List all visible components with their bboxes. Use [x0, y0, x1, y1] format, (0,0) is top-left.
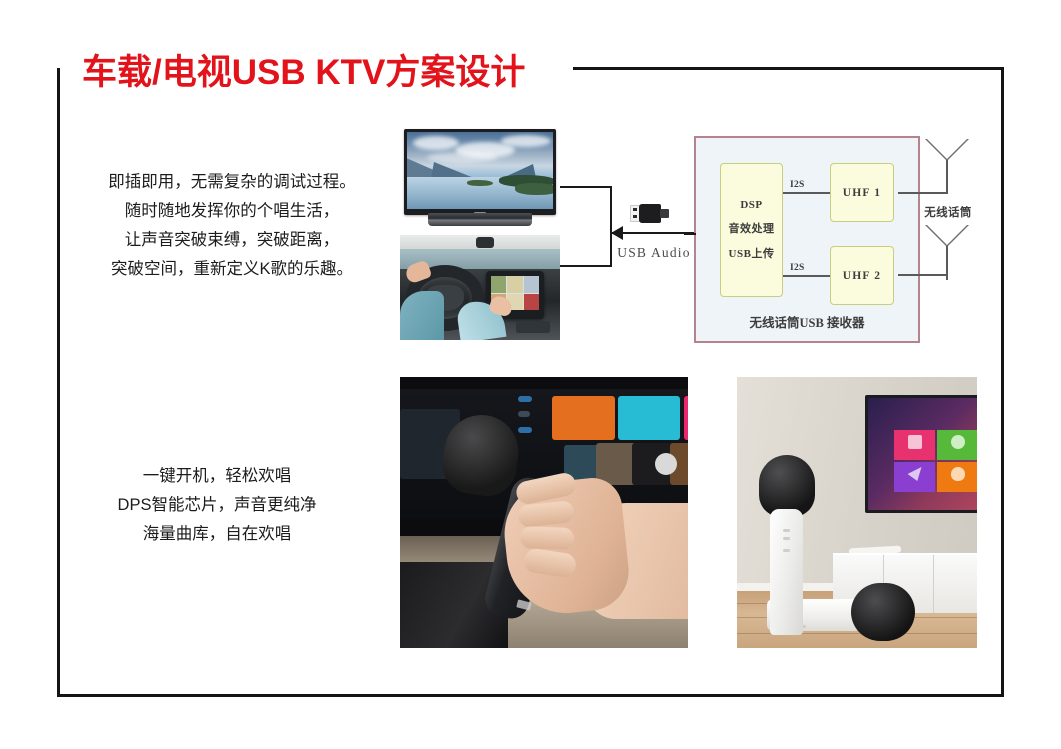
uhf2-block: UHF 2: [830, 246, 894, 305]
slide-canvas: 车载/电视USB KTV方案设计 即插即用，无需复杂的调试过程。 随时随地发挥你…: [0, 0, 1061, 749]
antenna-icon: [925, 139, 969, 195]
intro-line-1: 即插即用，无需复杂的调试过程。: [72, 168, 392, 197]
intro-line-3: 让声音突破束缚，突破距离，: [72, 226, 392, 255]
driver-left-arm: [400, 291, 444, 340]
tv-app-tile: [937, 462, 977, 492]
frame-border-left: [57, 68, 60, 697]
wireless-microphone-label: 无线话筒: [912, 204, 984, 220]
television-photo: [400, 127, 560, 231]
microphone-foam-windscreen: [759, 455, 815, 517]
receiver-caption: 无线话筒USB 接收器: [696, 312, 918, 331]
uhf2-label: UHF 2: [843, 270, 881, 282]
rear-view-mirror: [476, 237, 494, 248]
i2s-label-1: I2S: [790, 180, 805, 190]
usb-audio-label: USB Audio: [608, 245, 700, 261]
tv-home-screen: [868, 398, 977, 510]
car-connection-line: [560, 265, 612, 267]
i2s-line-2: [783, 275, 830, 277]
dsp-label-3: USB上传: [729, 245, 775, 261]
microphone-in-car-photo: [400, 377, 688, 648]
usb-audio-arrow-icon: [611, 226, 623, 240]
feature-line-2: DPS智能芯片，声音更纯净: [72, 491, 362, 520]
feature-line-3: 海量曲库，自在欢唱: [72, 520, 362, 549]
feature-line-1: 一键开机，轻松欢唱: [72, 462, 362, 491]
wall-mounted-tv: [865, 395, 977, 513]
microphone-foam-windscreen: [851, 583, 915, 641]
receiver-block-diagram: DSP 音效处理 USB上传 I2S I2S UHF 1 UHF 2 无线话筒U…: [694, 136, 920, 343]
tv-app-tiles: [894, 430, 977, 492]
diagram-input-stub: [684, 233, 696, 235]
tv-app-tile: [937, 430, 977, 460]
uhf1-block: UHF 1: [830, 163, 894, 222]
tv-app-tile: [894, 430, 935, 460]
car-air-vent: [516, 321, 550, 333]
intro-paragraph: 即插即用，无需复杂的调试过程。 随时随地发挥你的个唱生活， 让声音突破束缚，突破…: [72, 168, 392, 284]
tv-chassis: [404, 129, 556, 215]
tv-stand: [428, 213, 532, 226]
frame-border-right: [1001, 67, 1004, 697]
frame-border-bottom: [57, 694, 1004, 697]
dsp-label-1: DSP: [740, 199, 762, 211]
tv-screen-landscape: [407, 132, 553, 209]
antenna-icon: [925, 225, 969, 281]
i2s-line-1: [783, 192, 830, 194]
microphone-body: [770, 509, 803, 635]
page-title: 车载/电视USB KTV方案设计: [82, 44, 525, 95]
uhf1-label: UHF 1: [843, 187, 881, 199]
intro-line-4: 突破空间，重新定义K歌的乐趣。: [72, 255, 392, 284]
usb-connector-icon: [627, 203, 671, 225]
i2s-label-2: I2S: [790, 263, 805, 273]
frame-border-top: [573, 67, 1004, 70]
dsp-label-2: 音效处理: [729, 220, 775, 236]
dsp-block: DSP 音效处理 USB上传: [720, 163, 783, 297]
microphones-living-room-photo: [737, 377, 977, 648]
tv-connection-line: [560, 186, 612, 188]
car-interior-photo: [400, 235, 560, 340]
feature-paragraph: 一键开机，轻松欢唱 DPS智能芯片，声音更纯净 海量曲库，自在欢唱: [72, 462, 362, 549]
tv-app-tile: [894, 462, 935, 492]
intro-line-2: 随时随地发挥你的个唱生活，: [72, 197, 392, 226]
